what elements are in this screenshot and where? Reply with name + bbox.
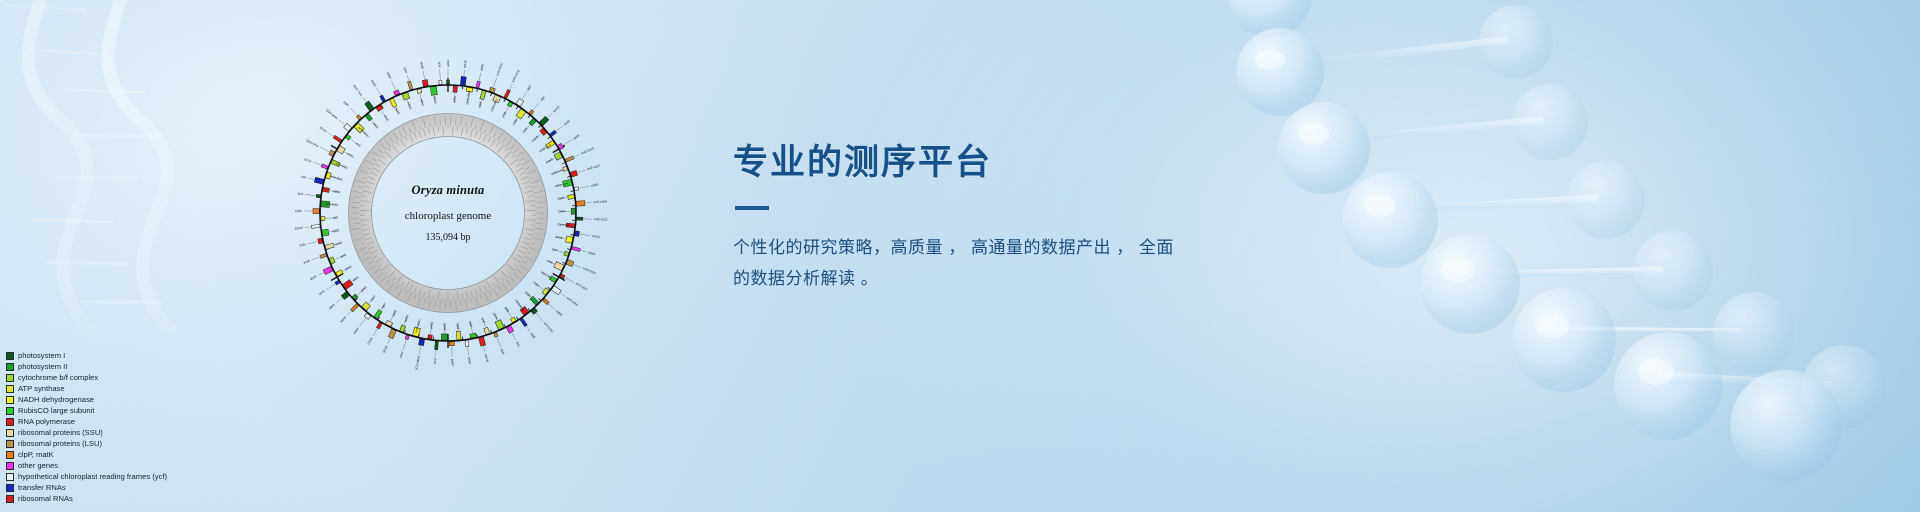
gene-label: matK: [452, 96, 456, 104]
gene-feature-box: [565, 156, 574, 162]
gene-leader-line: [326, 284, 335, 290]
gene-feature-box: [465, 340, 469, 347]
gene-leader-line: [350, 108, 357, 116]
gene-label: rpl22: [332, 228, 340, 233]
gene-feature-box: [568, 195, 575, 200]
gene-leader-line: [436, 350, 437, 356]
gene-label: ndhJ: [532, 280, 540, 288]
gene-label: accD: [492, 311, 499, 320]
gene-feature-box: [566, 236, 573, 243]
legend-item-label: hypothetical chloroplast reading frames …: [18, 472, 167, 481]
gene-label: trnS-GGA: [582, 266, 597, 275]
gene-feature-box: [320, 253, 327, 258]
gene-leader-line: [312, 257, 320, 260]
gene-label: trnE-UUC: [587, 163, 602, 171]
gene-label: rpoC2: [552, 104, 561, 113]
gene-label: trnD-GUC: [581, 146, 596, 156]
gene-label: atpF: [526, 84, 533, 91]
gene-label: psbC: [556, 196, 564, 201]
gene-leader-line: [493, 78, 497, 88]
gene-label: rpoB: [563, 119, 571, 126]
gene-label: trnC-GCA: [538, 143, 552, 154]
gene-leader-line: [512, 333, 516, 340]
legend-item: transfer RNAs: [6, 482, 167, 493]
gene-leader-line: [403, 340, 406, 350]
gene-label: rrn16: [304, 157, 312, 163]
gene-label: trnT-UGU: [575, 282, 589, 292]
gene-feature-box: [550, 130, 557, 136]
gene-label: psbA: [446, 59, 450, 67]
gene-label: rrn5: [355, 141, 362, 148]
gene-feature-box: [441, 334, 447, 340]
gene-feature-box: [435, 341, 439, 350]
legend-item-label: ribosomal RNAs: [18, 494, 73, 503]
gene-label: rpl14: [303, 259, 311, 265]
gene-leader-line: [423, 71, 424, 79]
gene-label: ndhD: [370, 78, 378, 87]
gene-leader-line: [549, 304, 555, 310]
gene-label: psbB: [352, 327, 359, 335]
gene-leader-line: [308, 178, 314, 179]
gene-label: rps16: [463, 60, 468, 68]
gene-label: psbD: [591, 182, 600, 187]
gene-leader-line: [574, 264, 582, 267]
gene-feature-box: [572, 246, 581, 251]
gene-feature-box: [576, 201, 585, 207]
gene-label: psbM: [545, 158, 554, 165]
gene-leader-line: [373, 329, 377, 336]
legend-color-swatch: [6, 440, 14, 448]
gene-label: rpoC1: [530, 135, 539, 144]
legend-item-label: NADH dehydrogenase: [18, 395, 94, 404]
gene-label: psbJ: [467, 357, 472, 364]
legend-item: RubisCO large subunit: [6, 405, 167, 416]
gene-leader-line: [563, 140, 572, 145]
gene-label: rpl36: [309, 274, 317, 281]
legend-item-label: RubisCO large subunit: [18, 406, 94, 415]
gene-label: trnR-UCU: [511, 69, 521, 83]
legend-item: clpP, matK: [6, 449, 167, 460]
gene-feature-box: [314, 177, 323, 184]
gene-label: rps4: [546, 259, 553, 265]
legend-item: ribosomal proteins (LSU): [6, 438, 167, 449]
legend-item-label: other genes: [18, 461, 58, 470]
legend-color-swatch: [6, 363, 14, 371]
gene-label: psbT: [369, 294, 377, 302]
legend-color-swatch: [6, 473, 14, 481]
gene-feature-box: [577, 217, 583, 220]
banner-copy-block: 专业的测序平台 个性化的研究策略，高质量 ， 高通量的数据产出 ， 全面 的数据…: [733, 140, 1433, 294]
gene-leader-line: [320, 147, 329, 152]
gene-leader-line: [509, 84, 512, 89]
gene-feature-box: [575, 231, 580, 237]
legend-item: ATP synthase: [6, 383, 167, 394]
gene-leader-line: [522, 92, 527, 99]
gene-leader-line: [574, 155, 580, 157]
gene-feature-box: [418, 339, 424, 346]
gene-feature-box: [476, 81, 480, 88]
gene-label: trnT-GGU: [554, 181, 568, 188]
gene-label: ycf4: [480, 317, 486, 324]
legend-color-swatch: [6, 484, 14, 492]
gene-label: trnQ-UUG: [465, 91, 471, 106]
gene-feature-box: [574, 187, 578, 191]
gene-label: psbL: [455, 322, 460, 329]
gene-feature-box: [571, 208, 575, 214]
gene-leader-line: [347, 311, 351, 315]
gene-label: trnY-GUA: [549, 168, 564, 177]
gene-label: trnG-UCC: [594, 217, 609, 222]
gene-label: trnV-UAC: [543, 321, 555, 334]
legend-item: ribosomal proteins (SSU): [6, 427, 167, 438]
page-title: 专业的测序平台: [733, 140, 1433, 186]
gene-label: psbN: [339, 316, 347, 324]
gene-feature-box: [439, 80, 442, 84]
gene-label: ndhC: [523, 290, 532, 299]
gene-leader-line: [305, 194, 315, 195]
gene-leader-line: [464, 70, 465, 76]
gene-label: ndhH: [419, 62, 424, 70]
gene-feature-box: [456, 331, 461, 340]
banner-description-line-1: 个性化的研究策略，高质量 ， 高通量的数据产出 ， 全面: [733, 232, 1253, 263]
gene-feature-box: [333, 135, 342, 142]
legend-color-swatch: [6, 495, 14, 503]
gene-feature-box: [390, 98, 397, 107]
gene-label: rps15: [433, 96, 438, 104]
gene-leader-line: [556, 126, 563, 131]
gene-feature-box: [313, 209, 319, 214]
gene-label: rps12: [366, 337, 374, 346]
gene-leader-line: [533, 102, 540, 110]
gene-label: rrn4.5: [319, 126, 328, 134]
gene-leader-line: [526, 326, 529, 331]
gene-feature-box: [449, 342, 454, 346]
gene-label: rpoA: [317, 289, 325, 296]
gene-feature-box: [530, 296, 539, 305]
gene-label: rps19: [295, 226, 303, 231]
banner-description-line-2: 的数据分析解读 。: [733, 263, 1253, 294]
gene-label: ndhB: [332, 189, 340, 194]
legend-item-label: ATP synthase: [18, 384, 65, 393]
gene-label: psbH: [360, 285, 368, 293]
gene-label: psaB: [555, 235, 563, 240]
gene-label: psbI: [477, 101, 483, 108]
gene-leader-line: [560, 293, 565, 297]
gene-leader-line: [548, 113, 552, 117]
gene-label: petB: [328, 303, 335, 310]
gene-feature-box: [321, 216, 325, 220]
gene-label: atpA: [501, 111, 508, 119]
gene-label: rbcL: [515, 341, 521, 348]
gene-feature-box: [405, 335, 409, 340]
gene-label: trnA-UGC: [304, 138, 319, 148]
gene-leader-line: [391, 81, 395, 91]
gene-leader-line: [483, 346, 485, 352]
legend-item-label: ribosomal proteins (SSU): [18, 428, 103, 437]
legend-item-label: clpP, matK: [18, 450, 54, 459]
gene-leader-line: [440, 69, 441, 79]
gene-label: rps18: [382, 345, 389, 354]
chloroplast-genome-map: psbAmatKrps16trnQ-UUGpsbKpsbItrnS-GCUtrn…: [243, 8, 653, 418]
gene-label: rpl16: [335, 241, 343, 247]
gene-leader-line: [467, 347, 468, 355]
gene-feature-box: [323, 266, 333, 274]
legend-item: photosystem II: [6, 361, 167, 372]
gene-feature-box: [318, 238, 323, 244]
gene-leader-line: [338, 120, 344, 125]
legend-item-label: ribosomal proteins (LSU): [18, 439, 102, 448]
gene-label: rps3: [299, 243, 306, 248]
gene-leader-line: [536, 313, 543, 321]
gene-label: psaJ: [399, 351, 405, 359]
gene-label: trnL-UAG: [352, 83, 363, 96]
gene-label: psbE: [442, 323, 446, 330]
gene-label: rpl33: [403, 314, 409, 322]
legend-color-swatch: [6, 429, 14, 437]
gene-label: psbK: [479, 63, 485, 72]
gene-label: trnL-UAA: [539, 270, 553, 281]
gene-feature-box: [470, 333, 477, 338]
gene-label: ycf2: [297, 192, 303, 197]
gene-leader-line: [497, 337, 501, 347]
gene-leader-line: [328, 133, 333, 136]
gene-label: trnM-CAU: [514, 299, 526, 312]
gene-label: cemA: [484, 354, 490, 364]
gene-feature-box: [325, 243, 334, 249]
gene-feature-box: [322, 229, 329, 236]
gene-label: atpB: [503, 306, 510, 314]
gene-label: psaC: [394, 107, 401, 116]
gene-label: rpl23: [295, 209, 302, 213]
gene-leader-line: [419, 346, 421, 354]
gene-feature-box: [321, 164, 328, 169]
gene-feature-box: [543, 298, 550, 304]
banner-description: 个性化的研究策略，高质量 ， 高通量的数据产出 ， 全面 的数据分析解读 。: [733, 232, 1253, 294]
gene-leader-line: [581, 250, 587, 252]
gene-label: psbZ: [558, 209, 565, 213]
gene-leader-line: [565, 278, 574, 283]
gene-label: trnS-GCU: [495, 62, 503, 76]
gene-feature-box: [430, 86, 437, 95]
gene-label: petN: [573, 134, 581, 141]
gene-feature-box: [484, 327, 490, 334]
gene-feature-box: [388, 329, 396, 339]
gene-feature-box: [570, 170, 577, 177]
gene-leader-line: [363, 97, 367, 102]
legend-item: ribosomal RNAs: [6, 493, 167, 504]
gene-feature-box: [351, 304, 359, 312]
gene-label: rrn23: [346, 152, 354, 159]
gene-label: psbF: [450, 359, 454, 366]
gene-leader-line: [407, 75, 409, 81]
gene-feature-box: [408, 81, 413, 90]
gene-label: petG: [429, 321, 434, 329]
gene-label: rpl20: [391, 309, 398, 317]
legend-item: photosystem I: [6, 350, 167, 361]
legend-item-label: photosystem II: [18, 362, 67, 371]
gene-feature-box: [311, 224, 320, 228]
gene-feature-box: [323, 187, 330, 192]
legend-color-swatch: [6, 407, 14, 415]
legend-item: other genes: [6, 460, 167, 471]
gene-label: trnV-GAC: [330, 174, 345, 182]
gene-label: trnI-GAU: [336, 161, 349, 170]
legend-item-label: cytochrome b/f complex: [18, 373, 98, 382]
gene-label: ndhF: [342, 100, 350, 108]
gene-label: psaA: [588, 250, 597, 256]
gene-leader-line: [307, 242, 317, 244]
gene-leader-line: [305, 227, 311, 228]
legend-item-label: RNA polymerase: [18, 417, 75, 426]
gene-leader-line: [359, 318, 365, 326]
gene-label: trnR-ACG: [325, 108, 338, 120]
gene-label: ndhG: [406, 102, 413, 111]
gene-label: trnW-CCA: [414, 356, 421, 371]
gene-label: rpl32: [372, 122, 380, 130]
gene-feature-box: [374, 310, 382, 319]
gene-label: ycf3: [551, 247, 558, 253]
legend-item: hypothetical chloroplast reading frames …: [6, 471, 167, 482]
gene-label: ycf1: [437, 61, 441, 67]
gene-label: atpE: [530, 332, 537, 340]
legend-color-swatch: [6, 418, 14, 426]
genome-legend: photosystem Iphotosystem IIcytochrome b/…: [6, 350, 167, 504]
gene-feature-box: [504, 89, 510, 98]
legend-color-swatch: [6, 462, 14, 470]
gene-label: rps7: [300, 174, 307, 179]
gene-label: trnF-GAA: [566, 296, 580, 307]
gene-feature-box: [453, 86, 457, 92]
gene-feature-box: [417, 89, 422, 94]
legend-item: cytochrome b/f complex: [6, 372, 167, 383]
gene-label: rps2: [521, 127, 528, 134]
gene-leader-line: [578, 170, 586, 172]
gene-feature-box: [428, 335, 433, 340]
gene-leader-line: [336, 298, 342, 303]
gene-label: trnS-UGA: [593, 199, 608, 204]
gene-label: ccsA: [383, 114, 391, 123]
gene-feature-box: [376, 322, 382, 329]
gene-label: ndhA: [419, 98, 425, 107]
gene-label: petA: [468, 319, 473, 327]
gene-label: rps14: [592, 234, 601, 239]
gene-feature-box: [460, 76, 466, 85]
gene-feature-box: [494, 332, 498, 337]
gene-feature-box: [422, 80, 428, 87]
legend-color-swatch: [6, 374, 14, 382]
legend-item: RNA polymerase: [6, 416, 167, 427]
gene-label: clpP: [380, 302, 387, 309]
gene-label: atpI: [539, 95, 545, 102]
gene-feature-box: [480, 90, 486, 99]
legend-item: NADH dehydrogenase: [6, 394, 167, 405]
gene-label: trnI-CAU: [326, 202, 338, 207]
gene-leader-line: [388, 338, 391, 344]
gene-leader-line: [313, 162, 321, 165]
gene-label: trnP-UGG: [414, 318, 422, 333]
gene-feature-box: [380, 95, 386, 102]
gene-label: rps11: [344, 264, 353, 271]
gene-label: rpl2: [333, 216, 339, 220]
gene-label: petL: [433, 358, 438, 365]
gene-label: petD: [352, 275, 360, 282]
legend-item-label: transfer RNAs: [18, 483, 66, 492]
gene-feature-box: [520, 318, 527, 327]
banner-root: psbAmatKrps16trnQ-UUGpsbKpsbItrnS-GCUtrn…: [0, 0, 1920, 512]
legend-item-label: photosystem I: [18, 351, 65, 360]
gene-feature-box: [316, 194, 320, 197]
legend-color-swatch: [6, 352, 14, 360]
gene-leader-line: [318, 273, 324, 276]
gene-label: ndhI: [403, 67, 409, 74]
gene-label: psaI: [500, 348, 506, 355]
gene-leader-line: [580, 234, 590, 236]
gene-feature-box: [447, 80, 450, 84]
gene-label: atpH: [512, 118, 519, 126]
gene-leader-line: [377, 88, 381, 95]
gene-label: ndhE: [386, 71, 393, 79]
gene-label: ndhK: [555, 309, 564, 317]
legend-color-swatch: [6, 396, 14, 404]
gene-leader-line: [579, 186, 589, 188]
gene-feature-box: [479, 337, 486, 346]
title-underline-rule: [735, 206, 769, 210]
legend-color-swatch: [6, 451, 14, 459]
gene-leader-line: [479, 73, 481, 81]
legend-color-swatch: [6, 385, 14, 393]
gene-label: rps8: [340, 253, 347, 259]
